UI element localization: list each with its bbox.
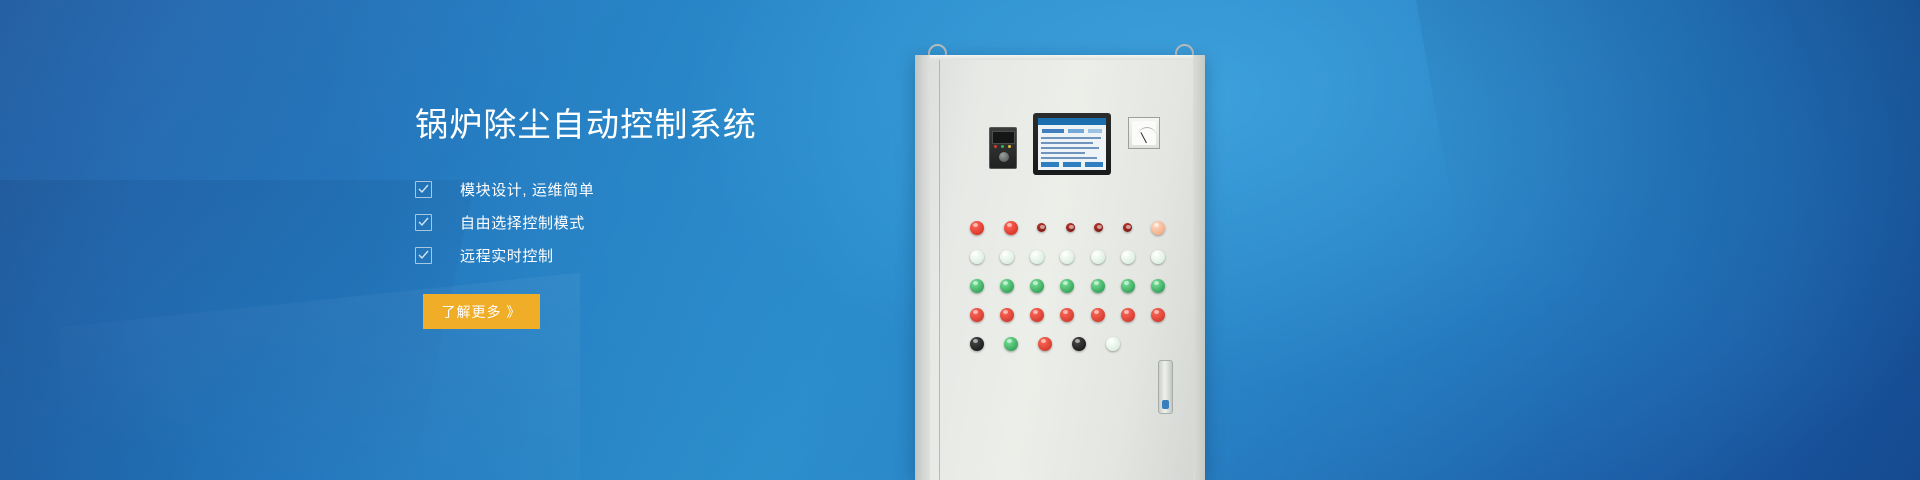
hmi-row: [1041, 142, 1093, 144]
cabinet-door-handle[interactable]: [1158, 360, 1173, 414]
indicator-lamp-white[interactable]: [1091, 250, 1105, 264]
banner-copy: 锅炉除尘自动控制系统 模块设计, 运维简单 自由选择控制模式 远程实时控制: [415, 104, 875, 329]
list-item: 模块设计, 运维简单: [415, 173, 875, 206]
hero-banner: 锅炉除尘自动控制系统 模块设计, 运维简单 自由选择控制模式 远程实时控制: [0, 0, 1920, 480]
indicator-lamp-green[interactable]: [1060, 279, 1074, 293]
cabinet-door-seam: [939, 60, 940, 480]
indicator-lamp-white[interactable]: [970, 250, 984, 264]
meter-face: [1132, 121, 1156, 145]
indicator-lamp-red[interactable]: [1030, 308, 1044, 322]
cabinet-left-edge: [915, 55, 930, 480]
indicator-lamp-dark-red[interactable]: [1066, 223, 1075, 232]
hmi-row: [1041, 137, 1101, 139]
indicator-lamp-green[interactable]: [970, 279, 984, 293]
analog-meter: [1128, 117, 1160, 149]
indicator-lamp-red[interactable]: [1000, 308, 1014, 322]
list-item: 自由选择控制模式: [415, 206, 875, 239]
lamp-row: [970, 250, 1165, 264]
indicator-lamp-dark-red[interactable]: [1037, 223, 1046, 232]
cabinet-top-edge: [915, 55, 1205, 60]
push-button-black[interactable]: [970, 337, 984, 351]
learn-more-button[interactable]: 了解更多 》: [423, 294, 540, 329]
hmi-block: [1085, 162, 1103, 167]
push-button-green[interactable]: [1004, 337, 1018, 351]
indicator-lamp-white[interactable]: [1121, 250, 1135, 264]
controller-led-amber: [1008, 145, 1011, 148]
indicator-lamp-green[interactable]: [1030, 279, 1044, 293]
indicator-lamp-white[interactable]: [1030, 250, 1044, 264]
controller-display: [992, 131, 1015, 144]
indicator-lamp-red[interactable]: [1091, 308, 1105, 322]
indicator-lamp-red[interactable]: [970, 221, 984, 235]
feature-label: 模块设计, 运维简单: [460, 179, 594, 200]
lamp-row: [970, 221, 1165, 235]
indicator-lamp-green[interactable]: [1091, 279, 1105, 293]
hmi-block: [1068, 129, 1084, 133]
hmi-screen: [1038, 118, 1106, 170]
indicator-lamp-grid: [970, 221, 1165, 366]
checkbox-checked-icon: [415, 214, 432, 231]
lamp-row: [970, 279, 1165, 293]
hmi-block: [1041, 162, 1059, 167]
indicator-lamp-red[interactable]: [1121, 308, 1135, 322]
checkbox-checked-icon: [415, 247, 432, 264]
indicator-lamp-red[interactable]: [1004, 221, 1018, 235]
cabinet-body: [915, 55, 1205, 480]
hmi-title-bar: [1038, 118, 1106, 125]
hmi-touch-panel: [1033, 113, 1111, 175]
list-item: 远程实时控制: [415, 239, 875, 272]
indicator-lamp-white[interactable]: [1151, 250, 1165, 264]
push-button-black[interactable]: [1072, 337, 1086, 351]
lamp-row: [970, 308, 1165, 322]
hmi-block: [1063, 162, 1081, 167]
controller-module: [989, 127, 1017, 169]
page-title: 锅炉除尘自动控制系统: [415, 104, 875, 145]
control-cabinet-image: [905, 38, 1215, 480]
indicator-lamp-amber[interactable]: [1151, 221, 1165, 235]
indicator-lamp-red[interactable]: [970, 308, 984, 322]
feature-label: 自由选择控制模式: [460, 212, 585, 233]
controller-knob: [999, 152, 1009, 162]
indicator-lamp-dark-red[interactable]: [1123, 223, 1132, 232]
cabinet-right-edge: [1193, 55, 1205, 480]
door-lock-icon[interactable]: [1162, 400, 1169, 409]
indicator-lamp-red[interactable]: [1060, 308, 1074, 322]
indicator-lamp-white[interactable]: [1000, 250, 1014, 264]
controller-led-green: [1001, 145, 1004, 148]
lamp-row: [970, 337, 1120, 351]
indicator-lamp-dark-red[interactable]: [1094, 223, 1103, 232]
indicator-lamp-green[interactable]: [1000, 279, 1014, 293]
feature-list: 模块设计, 运维简单 自由选择控制模式 远程实时控制: [415, 173, 875, 272]
hmi-row: [1041, 152, 1085, 154]
checkbox-checked-icon: [415, 181, 432, 198]
feature-label: 远程实时控制: [460, 245, 554, 266]
indicator-lamp-green[interactable]: [1151, 279, 1165, 293]
hmi-block: [1042, 129, 1064, 133]
hmi-row: [1041, 157, 1097, 159]
indicator-lamp-red[interactable]: [1151, 308, 1165, 322]
push-button-red[interactable]: [1038, 337, 1052, 351]
push-button-white[interactable]: [1106, 337, 1120, 351]
indicator-lamp-green[interactable]: [1121, 279, 1135, 293]
indicator-lamp-white[interactable]: [1060, 250, 1074, 264]
hmi-row: [1041, 147, 1099, 149]
controller-led-red: [994, 145, 997, 148]
hmi-block: [1088, 129, 1102, 133]
